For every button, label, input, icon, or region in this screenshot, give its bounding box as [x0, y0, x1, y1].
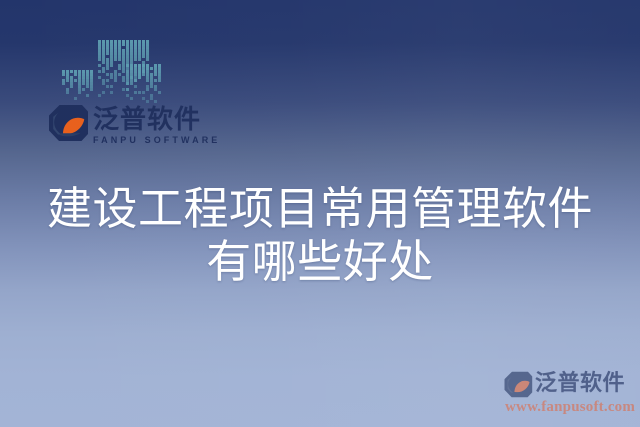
brand-name-en: FANPU SOFTWARE	[93, 134, 220, 146]
poster-canvas: 泛普软件 FANPU SOFTWARE 建设工程项目常用管理软件 有哪些好处 泛…	[0, 0, 640, 427]
watermark-name-cn: 泛普软件	[535, 371, 625, 395]
fanpu-hexagon-swoosh-logo-icon	[503, 371, 533, 398]
page-title-line-2: 有哪些好处	[0, 236, 640, 289]
watermark: 泛普软件 www.fanpusoft.com	[503, 371, 637, 416]
page-title-line-1: 建设工程项目常用管理软件	[0, 183, 640, 236]
cityscape-left-tower	[62, 70, 94, 106]
brand-text-block: 泛普软件 FANPU SOFTWARE	[93, 104, 220, 146]
fanpu-hexagon-swoosh-logo-icon	[47, 104, 89, 142]
brand-logo: 泛普软件 FANPU SOFTWARE	[47, 104, 220, 146]
page-title: 建设工程项目常用管理软件 有哪些好处	[0, 183, 640, 289]
watermark-url: www.fanpusoft.com	[505, 399, 637, 416]
watermark-logo-row: 泛普软件	[503, 371, 637, 398]
brand-name-cn: 泛普软件	[93, 105, 220, 133]
pixel-cityscape-icon	[62, 14, 162, 106]
cityscape-right-tower	[126, 64, 162, 106]
